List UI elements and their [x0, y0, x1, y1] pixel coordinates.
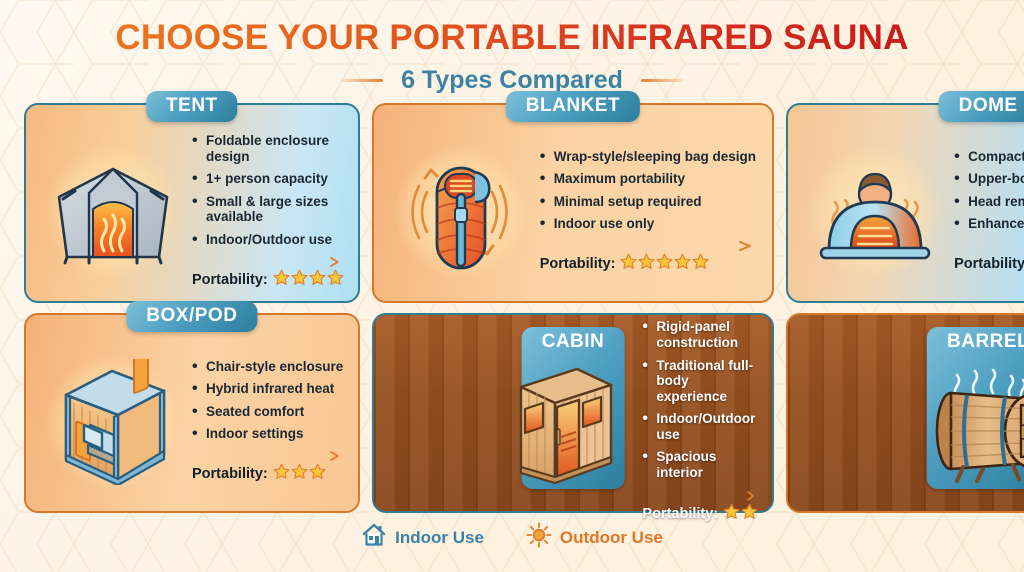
- star-icon: [291, 463, 308, 485]
- feature-text: Spacious interior: [656, 449, 716, 480]
- sun-icon: [526, 522, 552, 553]
- feature-item: Small & large sizes available: [192, 194, 344, 226]
- legend-item-outdoor: Outdoor Use: [526, 522, 663, 553]
- feature-text: Compact seated design: [968, 149, 1024, 164]
- sauna-card-boxpod[interactable]: BOX/POD Chair-style enclosureHybrid infr…: [24, 313, 360, 513]
- feature-list: Rigid-panel constructionTraditional full…: [642, 319, 758, 487]
- card-content: Foldable enclosure design1+ person capac…: [188, 131, 346, 293]
- feature-item: Chair-style enclosure: [192, 359, 344, 375]
- feature-item: Wrap-style/sleeping bag design: [540, 149, 758, 165]
- feature-item: Minimal setup required: [540, 194, 758, 210]
- feature-item: Traditional full-body experience: [642, 358, 758, 405]
- sauna-card-blanket[interactable]: BLANKET Wrap-style/sleeping bag designMa…: [372, 103, 774, 303]
- star-rating: [273, 463, 326, 485]
- page-header: CHOOSE YOUR PORTABLE INFRARED SAUNA 6 Ty…: [0, 0, 1024, 95]
- portability-rating: Portability:: [540, 253, 758, 275]
- star-icon: [327, 269, 344, 291]
- sauna-card-barrel[interactable]: BARREL Classi: [786, 313, 1024, 513]
- arrow-divider: [540, 240, 758, 252]
- star-icon: [291, 269, 308, 291]
- sauna-cabin-icon: [488, 341, 638, 503]
- legend-item-indoor: Indoor Use: [361, 522, 484, 553]
- feature-text: Head remains outside: [968, 194, 1024, 209]
- star-icon: [674, 253, 691, 275]
- card-title-badge-tent[interactable]: TENT: [146, 91, 238, 122]
- feature-text: Hybrid infrared heat: [206, 381, 334, 396]
- feature-text: Wrap-style/sleeping bag design: [554, 149, 756, 164]
- sauna-card-cabin[interactable]: CABIN Rigid-panel constructionTraditiona…: [372, 313, 774, 513]
- arrow-divider: [192, 256, 344, 268]
- feature-item: Compact seated design: [954, 149, 1024, 165]
- feature-text: Chair-style enclosure: [206, 359, 343, 374]
- feature-item: Hybrid infrared heat: [192, 381, 344, 397]
- feature-item: Upper-body treatment: [954, 171, 1024, 187]
- feature-text: Indoor use only: [554, 216, 655, 231]
- portability-rating: Portability:: [192, 463, 344, 485]
- sauna-dome-icon: [800, 131, 950, 293]
- arrow-divider: [642, 490, 758, 502]
- sauna-card-dome[interactable]: DOME Compact seated designUpper-body tre…: [786, 103, 1024, 303]
- feature-text: Indoor settings: [206, 426, 304, 441]
- feature-list: Wrap-style/sleeping bag designMaximum po…: [540, 149, 758, 238]
- feature-item: Spacious interior: [642, 449, 758, 481]
- card-title-badge-dome[interactable]: DOME: [939, 91, 1024, 122]
- feature-list: Foldable enclosure design1+ person capac…: [192, 133, 344, 254]
- sauna-barrel-icon: [922, 341, 1024, 503]
- feature-text: Upper-body treatment: [968, 171, 1024, 186]
- feature-text: Small & large sizes available: [206, 194, 328, 225]
- star-icon: [273, 269, 290, 291]
- star-rating: [273, 269, 344, 291]
- page-title: CHOOSE YOUR PORTABLE INFRARED SAUNA: [0, 18, 1024, 58]
- subtitle-dash-left: [341, 79, 383, 82]
- portability-label: Portability:: [192, 272, 268, 288]
- portability-rating: Portability:: [192, 269, 344, 291]
- star-icon: [692, 253, 709, 275]
- portability-rating: Portability:: [954, 253, 1024, 275]
- feature-text: Enhanced comfort & airflow: [968, 216, 1024, 231]
- feature-item: Foldable enclosure design: [192, 133, 344, 165]
- star-icon: [620, 253, 637, 275]
- star-icon: [309, 269, 326, 291]
- portability-label: Portability:: [192, 466, 268, 482]
- card-content: Rigid-panel constructionTraditional full…: [638, 341, 760, 503]
- feature-text: Traditional full-body experience: [656, 358, 753, 405]
- card-content: Wrap-style/sleeping bag designMaximum po…: [536, 131, 760, 293]
- feature-item: Seated comfort: [192, 404, 344, 420]
- feature-item: Indoor use only: [540, 216, 758, 232]
- feature-item: Head remains outside: [954, 194, 1024, 210]
- feature-text: Minimal setup required: [554, 194, 702, 209]
- feature-list: Chair-style enclosureHybrid infrared hea…: [192, 359, 344, 448]
- feature-list: Compact seated designUpper-body treatmen…: [954, 149, 1024, 238]
- portability-label: Portability:: [642, 506, 718, 522]
- portability-label: Portability:: [540, 256, 616, 272]
- subtitle-dash-right: [641, 79, 683, 82]
- card-content: Chair-style enclosureHybrid infrared hea…: [188, 341, 346, 503]
- usage-legend: Indoor Use Outdoor Use: [0, 522, 1024, 553]
- feature-item: Indoor/Outdoor use: [642, 411, 758, 443]
- sauna-type-grid: TENT Foldable enclosure design1+ person …: [0, 95, 1024, 513]
- feature-item: Indoor settings: [192, 426, 344, 442]
- sauna-pod-icon: [38, 341, 188, 503]
- feature-item: 1+ person capacity: [192, 171, 344, 187]
- feature-text: Maximum portability: [554, 171, 685, 186]
- sauna-blanket-icon: [386, 131, 536, 293]
- card-title-badge-boxpod[interactable]: BOX/POD: [126, 301, 257, 332]
- feature-item: Rigid-panel construction: [642, 319, 758, 351]
- feature-item: Enhanced comfort & airflow: [954, 216, 1024, 232]
- star-rating: [620, 253, 709, 275]
- arrow-divider: [192, 450, 344, 462]
- feature-text: Indoor/Outdoor use: [206, 232, 332, 247]
- portability-label: Portability:: [954, 256, 1024, 272]
- tent-icon: [38, 131, 188, 293]
- star-icon: [656, 253, 673, 275]
- feature-text: 1+ person capacity: [206, 171, 328, 186]
- star-icon: [273, 463, 290, 485]
- card-content: Compact seated designUpper-body treatmen…: [950, 131, 1024, 293]
- star-icon: [638, 253, 655, 275]
- arrow-divider: [954, 240, 1024, 252]
- legend-label: Indoor Use: [395, 528, 484, 548]
- feature-item: Maximum portability: [540, 171, 758, 187]
- feature-text: Indoor/Outdoor use: [656, 411, 755, 442]
- feature-text: Rigid-panel construction: [656, 319, 738, 350]
- card-title-badge-blanket[interactable]: BLANKET: [506, 91, 640, 122]
- house-icon: [361, 522, 387, 553]
- legend-label: Outdoor Use: [560, 528, 663, 548]
- sauna-card-tent[interactable]: TENT Foldable enclosure design1+ person …: [24, 103, 360, 303]
- star-icon: [309, 463, 326, 485]
- feature-text: Seated comfort: [206, 404, 304, 419]
- feature-text: Foldable enclosure design: [206, 133, 329, 164]
- feature-item: Indoor/Outdoor use: [192, 232, 344, 248]
